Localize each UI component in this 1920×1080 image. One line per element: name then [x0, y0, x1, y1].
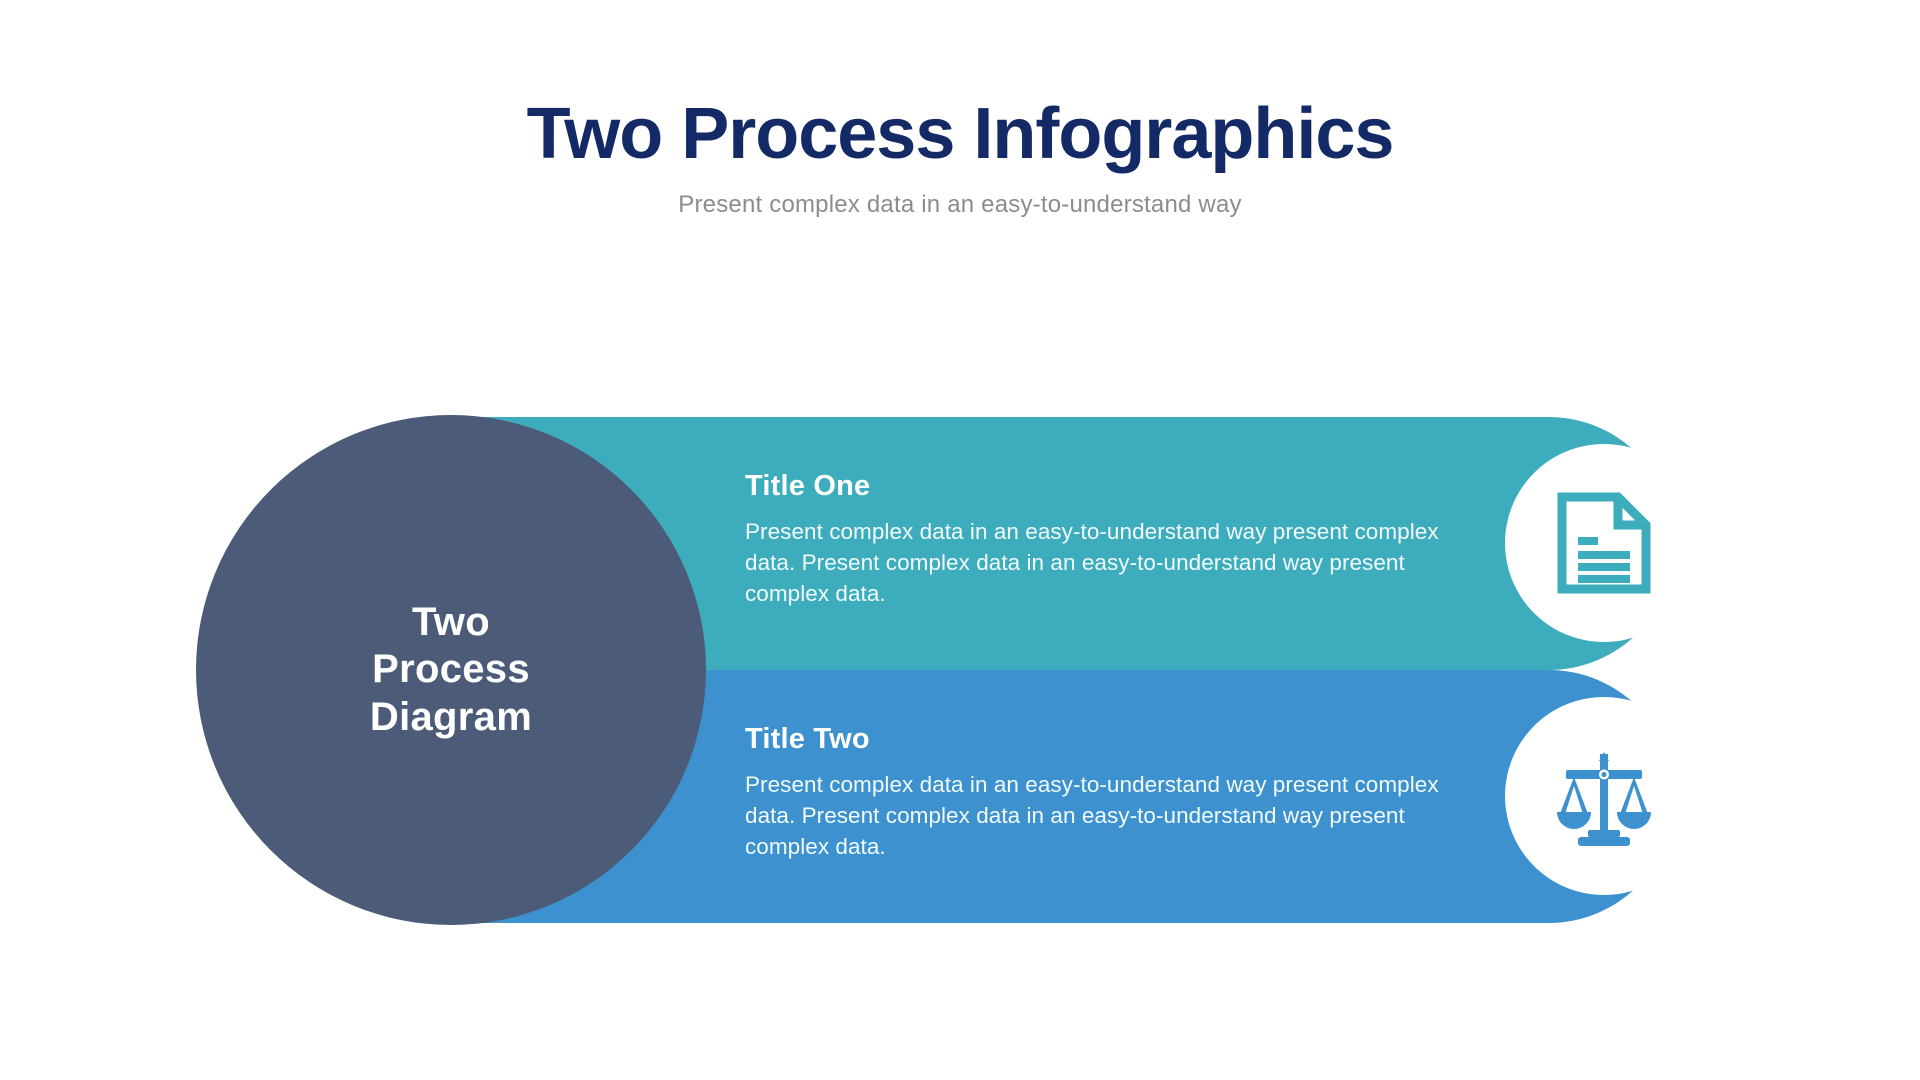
icon-badge-two[interactable] — [1505, 697, 1703, 895]
icon-badge-one[interactable] — [1505, 444, 1703, 642]
panel-two-body: Present complex data in an easy-to-under… — [745, 769, 1485, 862]
slide-header: Two Process Infographics Present complex… — [0, 98, 1920, 219]
panel-one-body: Present complex data in an easy-to-under… — [745, 516, 1485, 609]
hub-line-1: Two — [412, 599, 490, 646]
panel-two-heading: Title Two — [745, 723, 1485, 756]
scales-of-justice-icon — [1552, 744, 1656, 848]
panel-one-heading: Title One — [745, 470, 1485, 503]
hub-line-2: Process — [372, 646, 530, 693]
page-subtitle: Present complex data in an easy-to-under… — [0, 191, 1920, 219]
slide-canvas: Two Process Infographics Present complex… — [0, 0, 1920, 1080]
hub-line-3: Diagram — [370, 694, 532, 741]
page-title: Two Process Infographics — [0, 98, 1920, 171]
document-icon — [1556, 491, 1652, 595]
panel-two-content: Title Two Present complex data in an eas… — [745, 723, 1485, 862]
hub-circle[interactable]: Two Process Diagram — [196, 415, 706, 925]
panel-one-content: Title One Present complex data in an eas… — [745, 470, 1485, 609]
